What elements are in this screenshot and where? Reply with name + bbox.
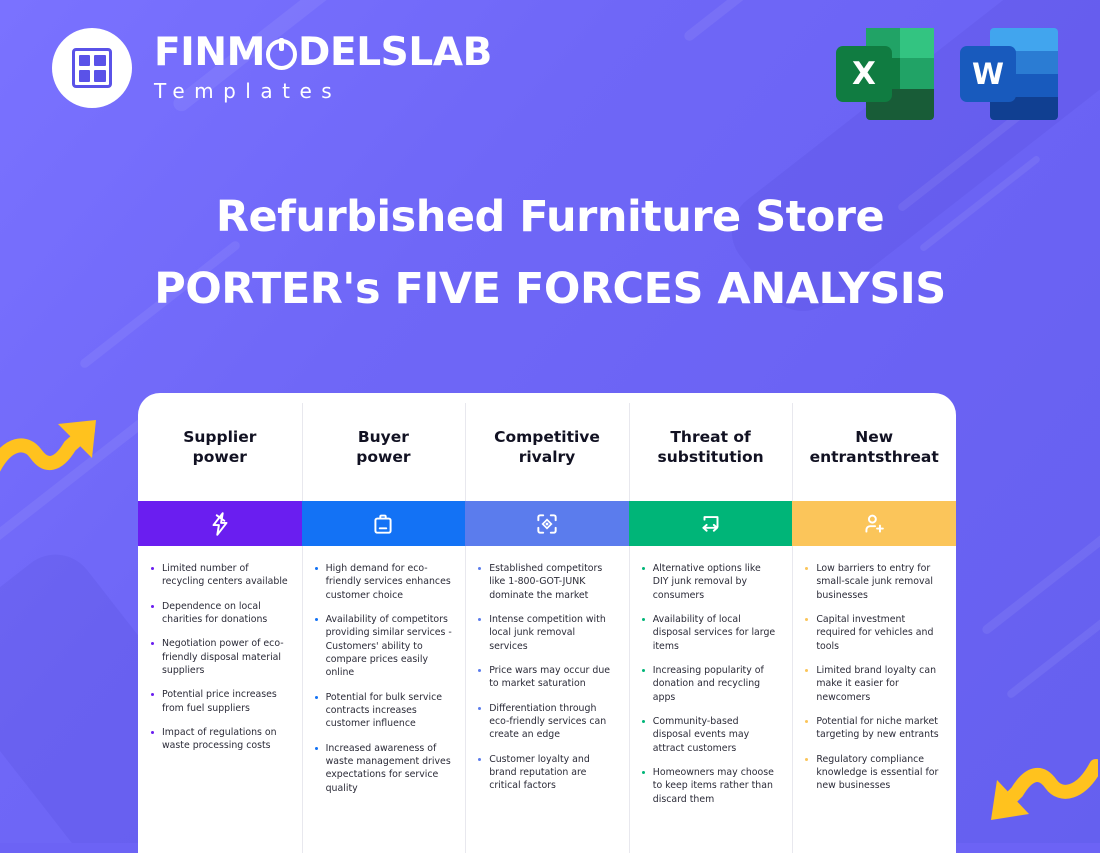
list-item: Alternative options like DIY junk remova…	[640, 562, 780, 602]
column-body-threat-of-substitution: Alternative options like DIY junk remova…	[629, 546, 793, 817]
list-item: Increased awareness of waste management …	[313, 742, 453, 795]
power-o-icon	[266, 39, 297, 70]
column-icon-bar-supplier-power	[138, 501, 302, 546]
list-item: Low barriers to entry for small-scale ju…	[803, 562, 943, 602]
briefcase-icon	[370, 511, 396, 537]
force-column-competitive-rivalry: Competitive rivalry Established competit…	[465, 393, 629, 853]
column-icon-bar-buyer-power	[302, 501, 466, 546]
column-header-line1: Competitive	[494, 427, 600, 447]
column-header-line1: Supplier	[183, 427, 256, 447]
column-header-line2: rivalry	[494, 447, 600, 467]
squiggly-arrow-up-right-icon	[0, 410, 127, 485]
list-item: Price wars may occur due to market satur…	[476, 664, 616, 691]
list-item: Homeowners may choose to keep items rath…	[640, 766, 780, 806]
column-header-competitive-rivalry: Competitive rivalry	[465, 393, 629, 501]
excel-icon-letter: X	[836, 46, 892, 102]
column-body-supplier-power: Limited number of recycling centers avai…	[138, 546, 302, 764]
word-icon-letter: W	[960, 46, 1016, 102]
column-header-line2: entrantsthreat	[810, 447, 939, 467]
list-item: Capital investment required for vehicles…	[803, 613, 943, 653]
list-item: Community-based disposal events may attr…	[640, 715, 780, 755]
add-user-icon	[861, 511, 887, 537]
force-column-new-entrants-threat: New entrantsthreat Low barriers to entry…	[792, 393, 956, 853]
squiggly-arrow-down-left-icon	[963, 752, 1098, 832]
column-icon-bar-new-entrants-threat	[792, 501, 956, 546]
force-column-supplier-power: Supplier power Limited number of recycli…	[138, 393, 302, 853]
column-header-line1: New	[810, 427, 939, 447]
list-item: Availability of competitors providing si…	[313, 613, 453, 680]
list-item: Regulatory compliance knowledge is essen…	[803, 753, 943, 793]
lightning-bolt-icon	[207, 511, 233, 537]
bullet-list-competitive-rivalry: Established competitors like 1-800-GOT-J…	[476, 562, 616, 793]
column-header-buyer-power: Buyer power	[302, 393, 466, 501]
bullet-list-buyer-power: High demand for eco-friendly services en…	[313, 562, 453, 795]
brand-name: FINM DELSLAB	[154, 33, 492, 72]
column-header-threat-of-substitution: Threat of substitution	[629, 393, 793, 501]
column-header-new-entrants-threat: New entrantsthreat	[792, 393, 956, 501]
column-header-line2: power	[183, 447, 256, 467]
column-body-new-entrants-threat: Low barriers to entry for small-scale ju…	[792, 546, 956, 804]
page-header: FINM DELSLAB Templates X W	[0, 0, 1100, 150]
porters-five-forces-card: Supplier power Limited number of recycli…	[138, 393, 956, 853]
list-item: Potential price increases from fuel supp…	[149, 688, 289, 715]
list-item: Impact of regulations on waste processin…	[149, 726, 289, 753]
excel-icon: X	[836, 28, 934, 120]
list-item: High demand for eco-friendly services en…	[313, 562, 453, 602]
brand-subtitle: Templates	[154, 79, 492, 103]
brand-name-part2: DELSLAB	[298, 33, 492, 72]
list-item: Intense competition with local junk remo…	[476, 613, 616, 653]
list-item: Limited brand loyalty can make it easier…	[803, 664, 943, 704]
bullet-list-supplier-power: Limited number of recycling centers avai…	[149, 562, 289, 753]
bg-streak	[981, 493, 1100, 636]
page-title-line2: PORTER's FIVE FORCES ANALYSIS	[0, 264, 1100, 314]
exchange-arrows-icon	[698, 511, 724, 537]
list-item: Dependence on local charities for donati…	[149, 600, 289, 627]
list-item: Limited number of recycling centers avai…	[149, 562, 289, 589]
column-body-buyer-power: High demand for eco-friendly services en…	[302, 546, 466, 806]
list-item: Potential for bulk service contracts inc…	[313, 691, 453, 731]
five-forces-table: Supplier power Limited number of recycli…	[138, 393, 956, 853]
bullet-list-new-entrants-threat: Low barriers to entry for small-scale ju…	[803, 562, 943, 793]
page-title-line1: Refurbished Furniture Store	[0, 192, 1100, 242]
list-item: Established competitors like 1-800-GOT-J…	[476, 562, 616, 602]
bullet-list-threat-of-substitution: Alternative options like DIY junk remova…	[640, 562, 780, 806]
column-header-line1: Buyer	[356, 427, 410, 447]
list-item: Customer loyalty and brand reputation ar…	[476, 753, 616, 793]
column-header-line2: power	[356, 447, 410, 467]
column-icon-bar-competitive-rivalry	[465, 501, 629, 546]
column-header-supplier-power: Supplier power	[138, 393, 302, 501]
force-column-threat-of-substitution: Threat of substitution Alternative optio…	[629, 393, 793, 853]
list-item: Differentiation through eco-friendly ser…	[476, 702, 616, 742]
office-format-icons: X W	[836, 28, 1058, 120]
list-item: Potential for niche market targeting by …	[803, 715, 943, 742]
list-item: Negotiation power of eco-friendly dispos…	[149, 637, 289, 677]
column-icon-bar-threat-of-substitution	[629, 501, 793, 546]
word-icon: W	[960, 28, 1058, 120]
brand-name-part1: FINM	[154, 33, 265, 72]
page-title: Refurbished Furniture Store PORTER's FIV…	[0, 192, 1100, 314]
column-header-line1: Threat of	[658, 427, 764, 447]
focus-target-icon	[534, 511, 560, 537]
column-header-line2: substitution	[658, 447, 764, 467]
grid-square-icon	[52, 28, 132, 108]
list-item: Availability of local disposal services …	[640, 613, 780, 653]
force-column-buyer-power: Buyer power High demand for eco-friendly…	[302, 393, 466, 853]
brand-logo: FINM DELSLAB Templates	[52, 28, 492, 108]
column-body-competitive-rivalry: Established competitors like 1-800-GOT-J…	[465, 546, 629, 804]
list-item: Increasing popularity of donation and re…	[640, 664, 780, 704]
